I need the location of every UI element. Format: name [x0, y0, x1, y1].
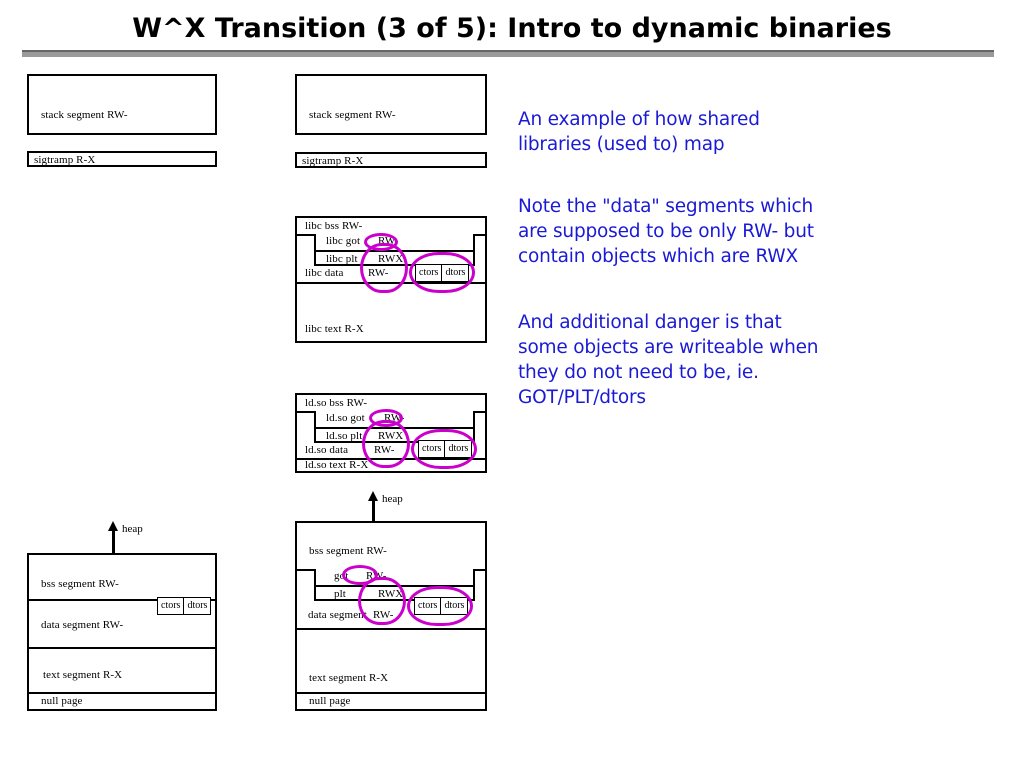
middle-plt-perm: RWX — [378, 588, 403, 600]
ldso-got-row: ld.so got RW- — [314, 411, 475, 427]
left-program-image-box: bss segment RW- data segment RW- text se… — [27, 553, 217, 711]
ldso-bss-label: ld.so bss RW- — [305, 397, 367, 409]
libc-ctors-cell: ctors — [416, 265, 441, 281]
middle-dtors-cell: dtors — [440, 598, 467, 614]
left-nullpage-label: null page — [41, 695, 83, 707]
ldso-data-perm: RW- — [374, 444, 394, 456]
middle-plt-name: plt — [334, 588, 346, 600]
left-data-label: data segment RW- — [41, 619, 123, 631]
libc-plt-perm: RWX — [378, 253, 403, 265]
left-sigtramp-label: sigtramp R-X — [34, 154, 95, 166]
ldso-data-name: ld.so data — [305, 444, 348, 456]
ldso-ctors-cell: ctors — [419, 441, 444, 457]
left-heap-label: heap — [122, 523, 143, 535]
libc-text-label: libc text R-X — [305, 323, 364, 335]
commentary-note-1: An example of how shared libraries (used… — [518, 107, 898, 157]
middle-heap-label: heap — [382, 493, 403, 505]
left-dtors-cell: dtors — [183, 598, 210, 614]
middle-bss-label: bss segment RW- — [309, 545, 387, 557]
left-nullpage-divider — [27, 692, 217, 694]
middle-got-name: got — [334, 570, 348, 582]
ldso-mapping-box: ld.so bss RW- ld.so got RW- ld.so plt RW… — [295, 393, 487, 473]
commentary-note-3: And additional danger is that some objec… — [518, 310, 908, 410]
middle-program-image-box: bss segment RW- got RW- plt RWX data seg… — [295, 521, 487, 711]
left-bss-label: bss segment RW- — [41, 578, 119, 590]
ldso-got-perm: RW- — [384, 412, 404, 424]
ldso-plt-name: ld.so plt — [326, 430, 362, 442]
left-ctors-dtors-table: ctors dtors — [157, 597, 211, 615]
middle-text-label: text segment R-X — [309, 672, 388, 684]
ldso-got-name: ld.so got — [326, 412, 365, 424]
ldso-text-label: ld.so text R-X — [305, 459, 368, 471]
commentary-note-2: Note the "data" segments which are suppo… — [518, 194, 908, 269]
ldso-plt-perm: RWX — [378, 430, 403, 442]
libc-data-perm: RW- — [368, 267, 388, 279]
ldso-dtors-cell: dtors — [444, 441, 471, 457]
title-divider — [22, 50, 994, 57]
middle-got-row: got RW- — [314, 569, 475, 585]
libc-ctors-dtors-table: ctors dtors — [415, 264, 469, 282]
left-sigtramp-box: sigtramp R-X — [27, 151, 217, 167]
middle-nullpage-label: null page — [309, 695, 351, 707]
libc-got-name: libc got — [326, 235, 360, 247]
middle-ctors-dtors-table: ctors dtors — [414, 597, 468, 615]
middle-ctors-cell: ctors — [415, 598, 440, 614]
libc-data-divider — [295, 282, 487, 284]
left-text-label: text segment R-X — [43, 669, 122, 681]
middle-data-perm: RW- — [373, 609, 393, 621]
page-title: W^X Transition (3 of 5): Intro to dynami… — [0, 13, 1024, 44]
left-stack-segment-box: stack segment RW- — [27, 74, 217, 135]
middle-got-perm: RW- — [366, 570, 386, 582]
left-text-divider — [27, 647, 217, 649]
arrow-stem — [112, 528, 115, 556]
left-heap-arrow: heap — [108, 521, 168, 557]
libc-got-perm: RW- — [378, 235, 398, 247]
middle-sigtramp-label: sigtramp R-X — [302, 155, 363, 167]
ldso-ctors-dtors-table: ctors dtors — [418, 440, 472, 458]
middle-nullpage-divider — [295, 692, 487, 694]
libc-dtors-cell: dtors — [441, 265, 468, 281]
libc-bss-label: libc bss RW- — [305, 220, 362, 232]
middle-data-divider — [295, 628, 487, 630]
middle-sigtramp-box: sigtramp R-X — [295, 152, 487, 168]
middle-data-name: data segment — [308, 609, 367, 621]
libc-data-name: libc data — [305, 267, 343, 279]
libc-plt-name: libc plt — [326, 253, 358, 265]
left-ctors-cell: ctors — [158, 598, 183, 614]
slide-canvas: W^X Transition (3 of 5): Intro to dynami… — [0, 0, 1024, 768]
libc-got-row: libc got RW- — [314, 234, 475, 250]
middle-stack-segment-label: stack segment RW- — [309, 109, 396, 121]
middle-stack-segment-box: stack segment RW- — [295, 74, 487, 135]
left-stack-segment-label: stack segment RW- — [41, 109, 128, 121]
